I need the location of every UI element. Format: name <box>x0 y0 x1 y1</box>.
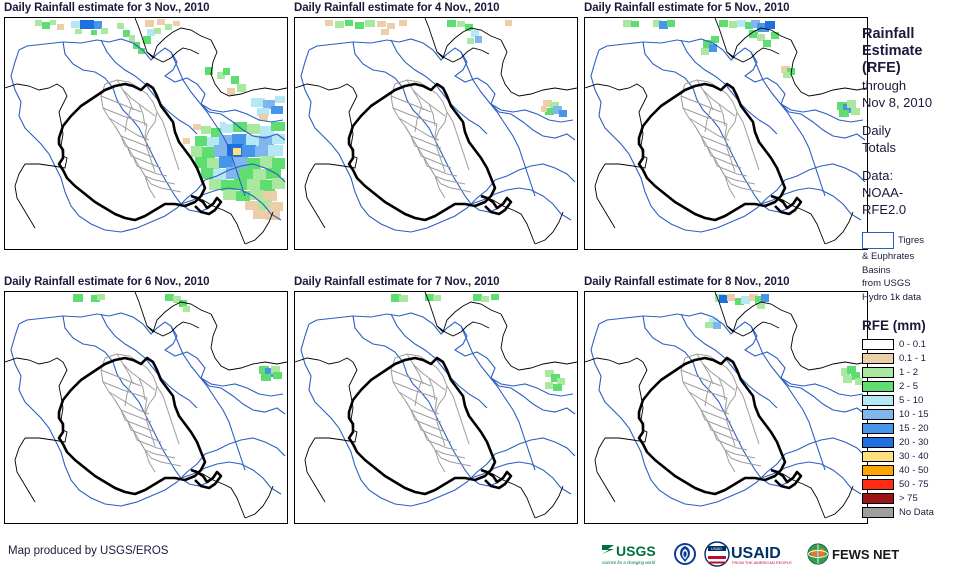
legend-swatch <box>862 437 894 448</box>
basin-key: Tigres & Euphrates Basins from USGS Hydr… <box>862 232 967 304</box>
rfe-legend: RFE (mm) 0 - 0.1 0.1 - 1 1 - 2 2 - 5 5 -… <box>862 318 967 519</box>
rfe-data-line2: NOAA- <box>862 184 967 201</box>
legend-row[interactable]: No Data <box>862 505 967 519</box>
admin-boundaries <box>391 80 471 198</box>
panel-title: Daily Rainfall estimate for 4 Nov., 2010 <box>294 2 578 17</box>
fewsnet-logo[interactable]: FEWS NET <box>807 542 899 571</box>
legend-label: 2 - 5 <box>899 381 918 392</box>
map-svg <box>585 18 867 249</box>
rfe-totals: Daily Totals <box>862 122 967 156</box>
admin-boundaries <box>101 354 181 472</box>
rfe-data-line3: RFE2.0 <box>862 201 967 218</box>
legend-label: 20 - 30 <box>899 437 929 448</box>
map-panel-5-nov[interactable]: Daily Rainfall estimate for 5 Nov., 2010 <box>584 2 868 252</box>
legend-label: 15 - 20 <box>899 423 929 434</box>
legend-label: > 75 <box>899 493 918 504</box>
basin-key-line4: from USGS <box>862 278 967 291</box>
rainfall-raster <box>73 294 282 381</box>
admin-boundaries <box>391 354 471 472</box>
legend-swatch <box>862 395 894 406</box>
rfe-through-label: through <box>862 77 967 94</box>
legend-swatch <box>862 493 894 504</box>
rfe-totals-line2: Totals <box>862 139 967 156</box>
legend-label: 0 - 0.1 <box>899 339 926 350</box>
legend-row[interactable]: 15 - 20 <box>862 421 967 435</box>
rfe-through: through Nov 8, 2010 <box>862 77 967 111</box>
basin-outline <box>301 39 575 232</box>
admin-boundaries <box>681 80 761 198</box>
usgs-logo[interactable]: USGS science for a changing world <box>600 541 666 572</box>
basin-key-line1: Tigres <box>898 235 924 246</box>
legend-title: RFE (mm) <box>862 318 967 333</box>
legend-swatch <box>862 507 894 518</box>
usgs-logo-tagline: science for a changing world <box>602 560 656 565</box>
basin-outline <box>591 39 865 232</box>
rfe-heading-line2: Estimate <box>862 43 967 60</box>
rainfall-raster <box>325 20 567 117</box>
map-credit: Map produced by USGS/EROS <box>8 545 168 557</box>
basin-swatch-icon <box>862 232 894 249</box>
legend-swatch <box>862 451 894 462</box>
map-frame[interactable] <box>294 17 578 250</box>
legend-row[interactable]: 0 - 0.1 <box>862 337 967 351</box>
map-frame[interactable] <box>4 291 288 524</box>
legend-swatch <box>862 423 894 434</box>
map-panel-grid: Daily Rainfall estimate for 3 Nov., 2010 <box>0 0 858 540</box>
panel-title: Daily Rainfall estimate for 7 Nov., 2010 <box>294 276 578 291</box>
legend-swatch <box>862 465 894 476</box>
logo-bar: USGS science for a changing world USAID … <box>600 541 906 571</box>
map-svg <box>295 292 577 523</box>
noaa-logo[interactable] <box>673 542 697 571</box>
basin-key-line5: Hydro 1k data <box>862 292 967 305</box>
rfe-heading-line1: Rainfall <box>862 26 967 43</box>
legend-label: 40 - 50 <box>899 465 929 476</box>
legend-swatch <box>862 409 894 420</box>
map-svg <box>5 18 287 249</box>
legend-row[interactable]: 50 - 75 <box>862 477 967 491</box>
map-svg <box>5 292 287 523</box>
rfe-totals-line1: Daily <box>862 122 967 139</box>
basin-key-line3: Basins <box>862 265 967 278</box>
admin-boundaries <box>101 80 181 198</box>
usaid-logo[interactable]: USAID USAID FROM THE AMERICAN PEOPLE <box>704 541 800 572</box>
legend-row[interactable]: 0.1 - 1 <box>862 351 967 365</box>
rfe-heading: Rainfall Estimate (RFE) <box>862 26 967 77</box>
panel-title: Daily Rainfall estimate for 8 Nov., 2010 <box>584 276 868 291</box>
rainfall-raster <box>391 294 565 391</box>
fewsnet-logo-text: FEWS NET <box>832 547 899 562</box>
panel-title: Daily Rainfall estimate for 6 Nov., 2010 <box>4 276 288 291</box>
legend-row[interactable]: 1 - 2 <box>862 365 967 379</box>
map-frame[interactable] <box>584 291 868 524</box>
legend-label: 10 - 15 <box>899 409 929 420</box>
legend-swatch <box>862 339 894 350</box>
basin-key-line2: & Euphrates <box>862 251 967 264</box>
legend-row[interactable]: 40 - 50 <box>862 463 967 477</box>
legend-row[interactable]: 20 - 30 <box>862 435 967 449</box>
legend-label: 1 - 2 <box>899 367 918 378</box>
rfe-data-source: Data: NOAA- RFE2.0 <box>862 167 967 218</box>
legend-swatch <box>862 381 894 392</box>
legend-label: 30 - 40 <box>899 451 929 462</box>
map-svg <box>585 292 867 523</box>
map-panel-8-nov[interactable]: Daily Rainfall estimate for 8 Nov., 2010 <box>584 276 868 526</box>
usgs-logo-text: USGS <box>616 543 656 559</box>
map-frame[interactable] <box>584 17 868 250</box>
legend-swatch <box>862 479 894 490</box>
basin-outline <box>301 313 575 506</box>
map-panel-6-nov[interactable]: Daily Rainfall estimate for 6 Nov., 2010 <box>4 276 288 526</box>
map-frame[interactable] <box>4 17 288 250</box>
legend-swatch <box>862 367 894 378</box>
basin-outline <box>11 313 285 506</box>
map-panel-3-nov[interactable]: Daily Rainfall estimate for 3 Nov., 2010 <box>4 2 288 252</box>
legend-row[interactable]: 2 - 5 <box>862 379 967 393</box>
rainfall-raster <box>623 20 860 117</box>
basin-outline <box>591 313 865 506</box>
legend-row[interactable]: 30 - 40 <box>862 449 967 463</box>
legend-row[interactable]: 10 - 15 <box>862 407 967 421</box>
panel-title: Daily Rainfall estimate for 3 Nov., 2010 <box>4 2 288 17</box>
panel-title: Daily Rainfall estimate for 5 Nov., 2010 <box>584 2 868 17</box>
rfe-data-line1: Data: <box>862 167 967 184</box>
legend-label: 0.1 - 1 <box>899 353 926 364</box>
legend-row[interactable]: > 75 <box>862 491 967 505</box>
legend-swatch <box>862 353 894 364</box>
map-svg <box>295 18 577 249</box>
legend-label: No Data <box>899 507 934 518</box>
legend-label: 5 - 10 <box>899 395 923 406</box>
map-frame[interactable] <box>294 291 578 524</box>
admin-boundaries <box>681 354 761 472</box>
map-panel-4-nov[interactable]: Daily Rainfall estimate for 4 Nov., 2010 <box>294 2 578 252</box>
legend-label: 50 - 75 <box>899 479 929 490</box>
rainfall-raster <box>35 19 285 220</box>
info-column: Rainfall Estimate (RFE) through Nov 8, 2… <box>862 0 967 576</box>
rfe-heading-line3: (RFE) <box>862 60 967 77</box>
legend-row[interactable]: 5 - 10 <box>862 393 967 407</box>
usaid-logo-tagline: FROM THE AMERICAN PEOPLE <box>732 560 792 565</box>
svg-text:USAID: USAID <box>711 547 722 551</box>
rfe-through-date: Nov 8, 2010 <box>862 94 967 111</box>
map-panel-7-nov[interactable]: Daily Rainfall estimate for 7 Nov., 2010 <box>294 276 578 526</box>
